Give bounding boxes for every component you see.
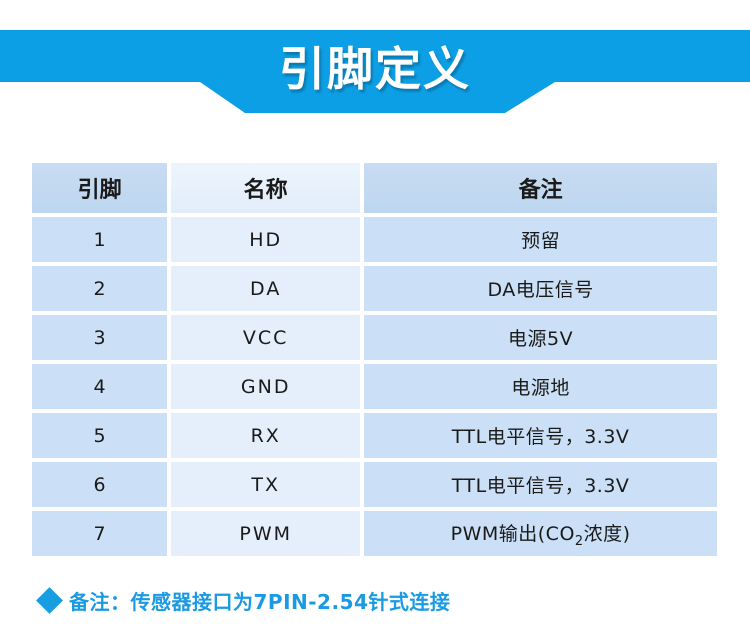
cell-note: TTL电平信号，3.3V <box>364 413 717 458</box>
table-header: 引脚 名称 备注 <box>32 163 717 213</box>
table-row: 7 PWM PWM输出(CO2浓度) <box>32 511 717 556</box>
page-title: 引脚定义 <box>0 30 750 113</box>
cell-name: RX <box>171 413 360 458</box>
cell-note: DA电压信号 <box>364 266 717 311</box>
cell-note: 预留 <box>364 217 717 262</box>
cell-name: GND <box>171 364 360 409</box>
table-body: 1 HD 预留 2 DA DA电压信号 3 VCC 电源5V 4 GND 电源地… <box>32 217 717 556</box>
cell-note-suffix: 浓度) <box>584 523 631 545</box>
cell-pin: 1 <box>32 217 167 262</box>
footnote: 备注：传感器接口为7PIN-2.54针式连接 <box>40 586 450 615</box>
column-header-note: 备注 <box>364 163 717 213</box>
cell-pin: 3 <box>32 315 167 360</box>
column-header-name: 名称 <box>171 163 360 213</box>
cell-name: PWM <box>171 511 360 556</box>
footnote-text: 备注：传感器接口为7PIN-2.54针式连接 <box>69 586 450 615</box>
pin-definition-page: 引脚定义 引脚 名称 备注 1 HD 预留 2 DA DA电压信号 3 <box>0 0 750 636</box>
table-row: 1 HD 预留 <box>32 217 717 262</box>
diamond-bullet-icon <box>36 587 63 614</box>
cell-name: TX <box>171 462 360 507</box>
cell-name: DA <box>171 266 360 311</box>
pin-definition-table: 引脚 名称 备注 1 HD 预留 2 DA DA电压信号 3 VCC 电源5V <box>28 159 721 560</box>
table-header-row: 引脚 名称 备注 <box>32 163 717 213</box>
cell-note: 电源地 <box>364 364 717 409</box>
cell-pin: 5 <box>32 413 167 458</box>
header-banner: 引脚定义 <box>0 30 750 113</box>
cell-note-prefix: PWM输出(CO <box>451 523 575 545</box>
cell-note: PWM输出(CO2浓度) <box>364 511 717 556</box>
cell-pin: 7 <box>32 511 167 556</box>
cell-name: VCC <box>171 315 360 360</box>
cell-pin: 6 <box>32 462 167 507</box>
table-row: 5 RX TTL电平信号，3.3V <box>32 413 717 458</box>
cell-pin: 4 <box>32 364 167 409</box>
cell-pin: 2 <box>32 266 167 311</box>
cell-note: TTL电平信号，3.3V <box>364 462 717 507</box>
table-row: 3 VCC 电源5V <box>32 315 717 360</box>
cell-note: 电源5V <box>364 315 717 360</box>
table-row: 2 DA DA电压信号 <box>32 266 717 311</box>
table-row: 4 GND 电源地 <box>32 364 717 409</box>
column-header-pin: 引脚 <box>32 163 167 213</box>
cell-name: HD <box>171 217 360 262</box>
cell-note-subscript: 2 <box>575 533 584 548</box>
table-row: 6 TX TTL电平信号，3.3V <box>32 462 717 507</box>
